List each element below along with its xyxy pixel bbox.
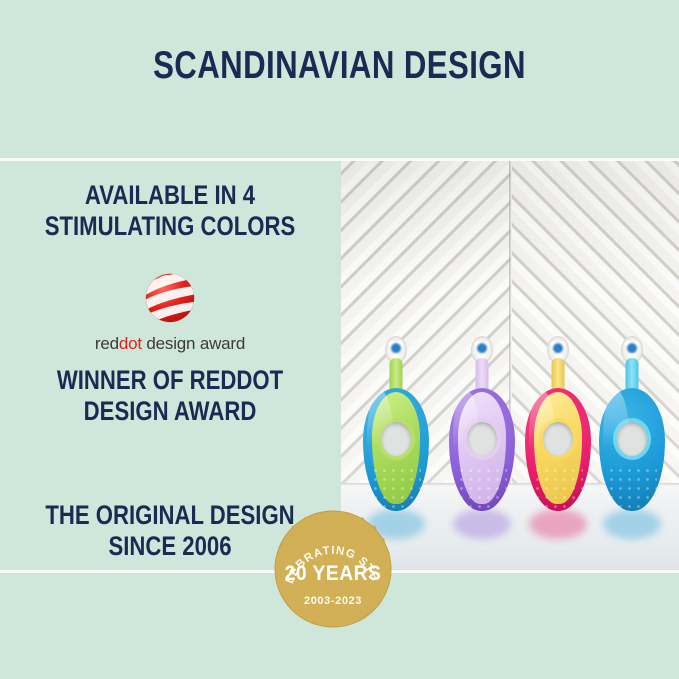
brush-highlight <box>453 390 479 480</box>
reddot-sphere-icon <box>141 268 199 326</box>
reddot-wordmark-dot: dot <box>119 334 142 353</box>
origin-headline-line2: SINCE 2006 <box>31 531 310 562</box>
colors-headline: AVAILABLE IN 4 STIMULATING COLORS <box>31 180 310 242</box>
reddot-wordmark-rest: design award <box>142 334 245 353</box>
award-headline-line2: DESIGN AWARD <box>31 396 310 427</box>
award-headline-line1: WINNER OF REDDOT <box>31 365 310 396</box>
marketing-infographic: SCANDINAVIAN DESIGN AVAILABLE IN 4 STIMU… <box>0 0 679 679</box>
brush-highlight <box>367 390 393 480</box>
brush-lightblue <box>599 336 665 511</box>
page-title: SCANDINAVIAN DESIGN <box>68 44 611 88</box>
reddot-award-logo: reddot design award <box>0 268 340 354</box>
origin-headline: THE ORIGINAL DESIGN SINCE 2006 <box>31 500 310 562</box>
brush-body <box>525 388 591 511</box>
brush-body <box>449 388 515 511</box>
brush-reflection <box>453 509 511 539</box>
badge-main-text: 20 YEARS <box>274 562 392 586</box>
reddot-wordmark-red: red <box>95 334 119 353</box>
colors-headline-line2: STIMULATING COLORS <box>31 211 310 242</box>
brush-green <box>363 336 429 511</box>
brush-body <box>599 388 665 511</box>
brush-reflection <box>529 509 587 539</box>
brush-reflection <box>603 509 661 539</box>
brush-lavender <box>449 336 515 511</box>
brush-highlight <box>603 390 629 480</box>
brush-body <box>363 388 429 511</box>
brush-yellow <box>525 336 591 511</box>
origin-headline-line1: THE ORIGINAL DESIGN <box>31 500 310 531</box>
reddot-wordmark: reddot design award <box>0 334 340 354</box>
anniversary-badge: CELEBRATING STEP 1 20 YEARS 2003-2023 <box>269 507 397 635</box>
award-headline: WINNER OF REDDOT DESIGN AWARD <box>31 365 310 427</box>
colors-headline-line1: AVAILABLE IN 4 <box>31 180 310 211</box>
brush-highlight <box>529 390 555 480</box>
badge-year-range: 2003-2023 <box>269 595 397 607</box>
